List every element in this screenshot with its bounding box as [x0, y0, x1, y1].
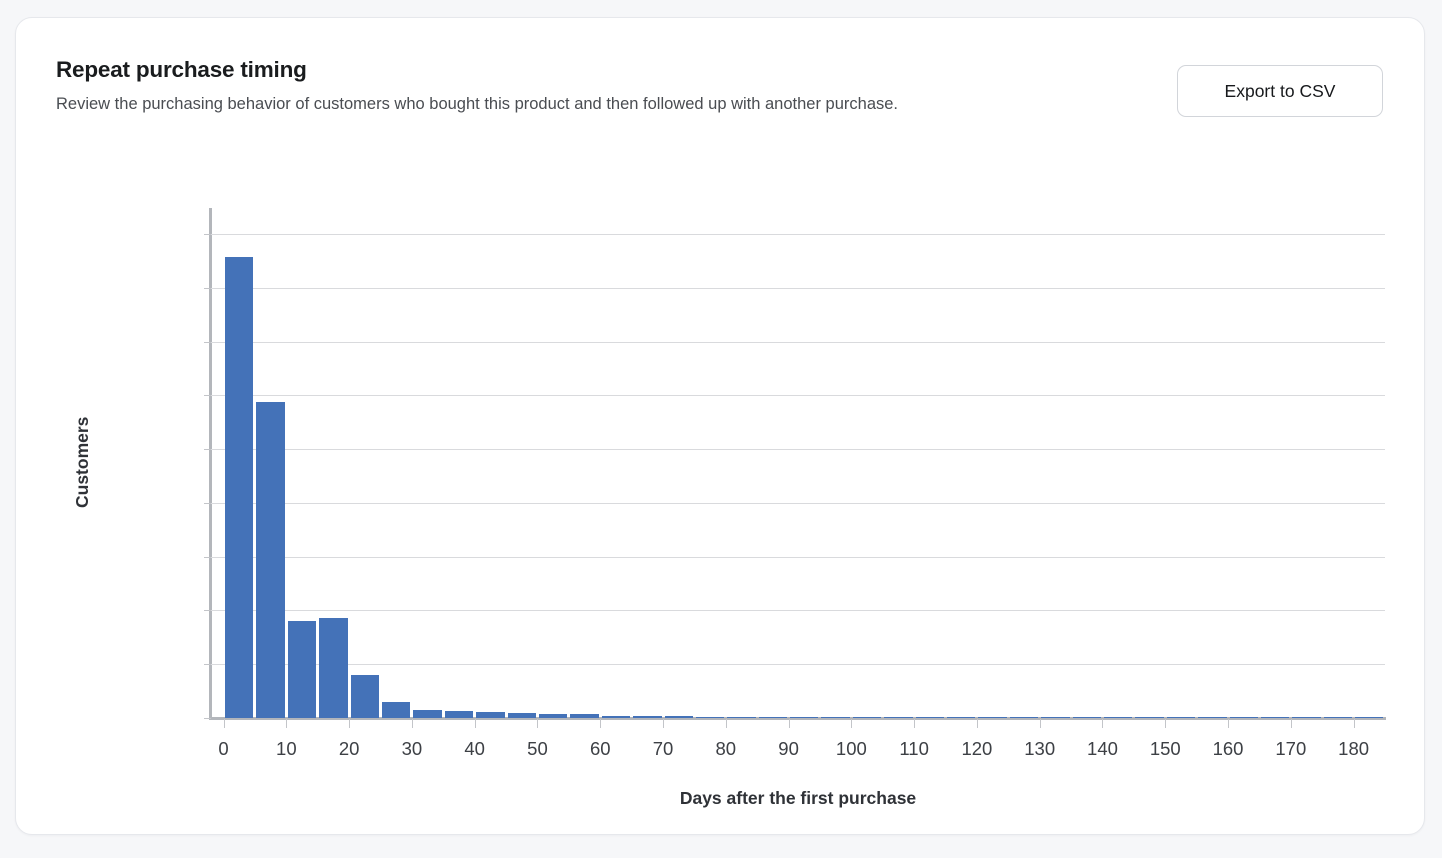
histogram-bar	[602, 716, 630, 718]
histogram-bar	[916, 717, 944, 718]
histogram-bar	[445, 711, 473, 718]
x-axis-tick-label: 10	[276, 738, 297, 760]
x-axis-tick	[349, 719, 350, 728]
histogram-bar	[476, 712, 504, 718]
histogram-bar	[821, 717, 849, 718]
y-axis-tick	[204, 664, 211, 665]
x-axis-tick	[224, 719, 225, 728]
x-axis-tick	[914, 719, 915, 728]
y-axis-line	[209, 208, 212, 720]
repeat-purchase-card: Repeat purchase timing Review the purcha…	[15, 17, 1425, 835]
gridline	[211, 664, 1385, 665]
histogram-bar	[413, 710, 441, 718]
x-axis-tick	[1354, 719, 1355, 728]
histogram-bar	[319, 618, 347, 718]
x-axis-tick-label: 130	[1024, 738, 1055, 760]
histogram-bar	[288, 621, 316, 718]
histogram-bar	[790, 717, 818, 718]
x-axis-tick	[851, 719, 852, 728]
gridline	[211, 395, 1385, 396]
x-axis-tick-label: 40	[464, 738, 485, 760]
x-axis-tick-label: 70	[653, 738, 674, 760]
x-axis-tick	[663, 719, 664, 728]
histogram-bar	[759, 717, 787, 718]
y-axis-tick	[204, 503, 211, 504]
histogram-bar	[1292, 717, 1320, 718]
x-axis-tick-label: 170	[1275, 738, 1306, 760]
gridline	[211, 234, 1385, 235]
histogram-bar	[1198, 717, 1226, 718]
histogram-bar	[947, 717, 975, 718]
x-axis-tick-label: 180	[1338, 738, 1369, 760]
histogram-bar	[1010, 717, 1038, 718]
x-axis-tick-label: 60	[590, 738, 611, 760]
x-axis-tick	[412, 719, 413, 728]
x-axis-label: Days after the first purchase	[211, 788, 1385, 809]
gridline	[211, 557, 1385, 558]
x-axis-tick-label: 150	[1150, 738, 1181, 760]
repeat-purchase-histogram: Customers Days after the first purchase …	[16, 208, 1424, 833]
x-axis-tick	[726, 719, 727, 728]
gridline	[211, 288, 1385, 289]
export-to-csv-button[interactable]: Export to CSV	[1177, 65, 1383, 117]
x-axis-tick-label: 110	[899, 738, 929, 760]
gridline	[211, 503, 1385, 504]
y-axis-tick	[204, 395, 211, 396]
histogram-bar	[727, 717, 755, 718]
histogram-bar	[1355, 717, 1383, 718]
histogram-bar	[225, 257, 253, 718]
x-axis-tick	[977, 719, 978, 728]
y-axis-tick	[204, 288, 211, 289]
histogram-bar	[978, 717, 1006, 718]
card-description: Review the purchasing behavior of custom…	[56, 91, 1116, 117]
histogram-bar	[853, 717, 881, 718]
histogram-bar	[1230, 717, 1258, 718]
y-axis-tick	[204, 557, 211, 558]
x-axis-tick-label: 160	[1213, 738, 1244, 760]
x-axis-tick-label: 50	[527, 738, 548, 760]
x-axis-tick-label: 0	[218, 738, 228, 760]
histogram-bar	[1324, 717, 1352, 718]
x-axis-tick-label: 120	[961, 738, 992, 760]
y-axis-label: Customers	[72, 417, 93, 508]
gridline	[211, 610, 1385, 611]
histogram-bar	[1261, 717, 1289, 718]
y-axis-tick	[204, 234, 211, 235]
histogram-bar	[696, 717, 724, 718]
x-axis-tick-label: 80	[716, 738, 737, 760]
histogram-bar	[256, 402, 284, 718]
x-axis-tick	[1040, 719, 1041, 728]
x-axis-tick-label: 30	[402, 738, 423, 760]
histogram-bar	[382, 702, 410, 718]
y-axis-tick	[204, 718, 211, 719]
x-axis-tick-label: 20	[339, 738, 360, 760]
histogram-bar	[884, 717, 912, 718]
y-axis-tick	[204, 610, 211, 611]
histogram-bar	[1167, 717, 1195, 718]
x-axis-tick	[537, 719, 538, 728]
x-axis-tick	[286, 719, 287, 728]
x-axis-tick	[1291, 719, 1292, 728]
x-axis-tick	[1102, 719, 1103, 728]
x-axis-tick-label: 100	[836, 738, 867, 760]
x-axis-tick	[1228, 719, 1229, 728]
gridline	[211, 449, 1385, 450]
histogram-bar	[665, 716, 693, 718]
y-axis-tick	[204, 449, 211, 450]
histogram-bar	[1135, 717, 1163, 718]
x-axis-tick	[789, 719, 790, 728]
x-axis-tick-label: 140	[1087, 738, 1118, 760]
histogram-bar	[1073, 717, 1101, 718]
x-axis-tick	[1165, 719, 1166, 728]
x-axis-tick-label: 90	[778, 738, 799, 760]
gridline	[211, 342, 1385, 343]
x-axis-tick	[600, 719, 601, 728]
plot-area: 0400080001200016000200002400028000320003…	[211, 234, 1385, 718]
histogram-bar	[351, 675, 379, 718]
histogram-bar	[508, 713, 536, 718]
histogram-bar	[1041, 717, 1069, 718]
histogram-bar	[1104, 717, 1132, 718]
y-axis-tick	[204, 342, 211, 343]
histogram-bar	[570, 714, 598, 718]
histogram-bar	[539, 714, 567, 718]
x-axis-tick	[475, 719, 476, 728]
histogram-bar	[633, 716, 661, 718]
